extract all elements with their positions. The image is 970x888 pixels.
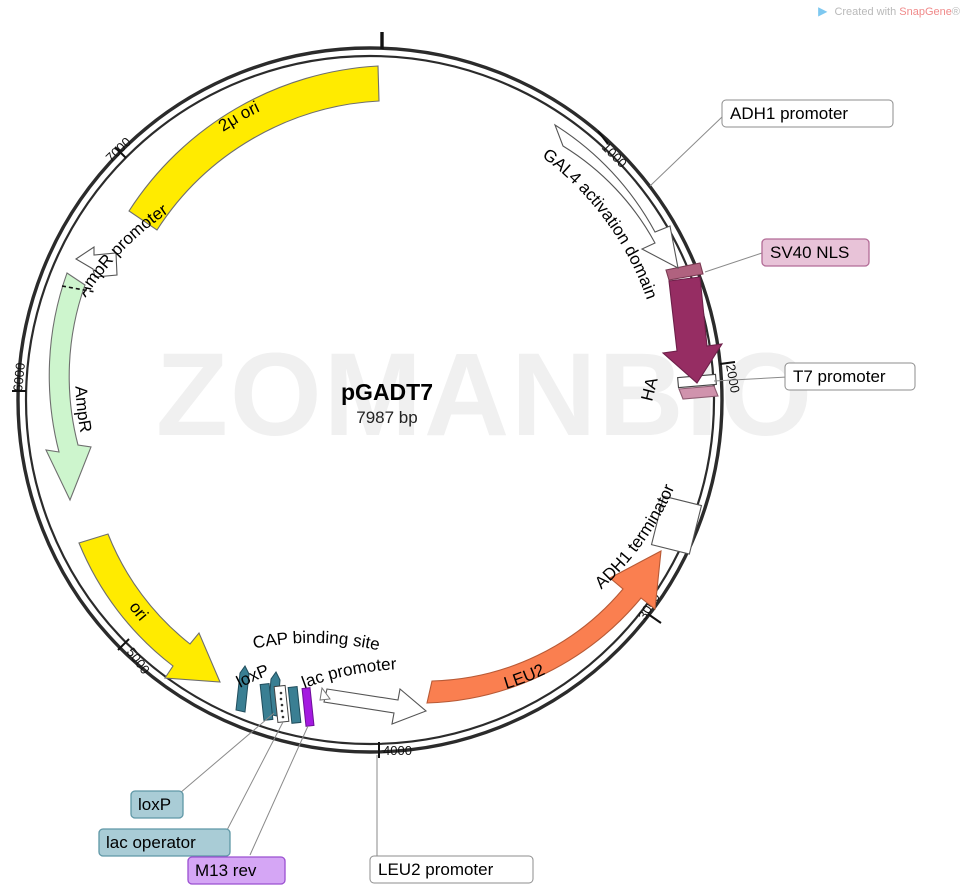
snapgene-credit: ▶ Created with SnapGene® [818, 4, 960, 18]
feature-label-cap-binding-site: CAP binding site [251, 628, 381, 654]
credit-brand-snap: SnapGene [899, 6, 952, 18]
tick-4000: 4000 [379, 742, 412, 758]
feature-m13-rev[interactable] [302, 688, 314, 727]
callout-label: ADH1 promoter [730, 104, 848, 123]
callout-adh1-promoter[interactable]: ADH1 promoter [722, 100, 893, 127]
callout-label: loxP [138, 795, 171, 814]
tick-label: 7000 [103, 134, 134, 165]
plasmid-map-canvas: ZOMANBIO 1000 2000 3000 [0, 0, 970, 888]
callout-label: lac operator [106, 833, 196, 852]
feature-ampr[interactable]: AmpR [46, 273, 95, 500]
tick-label: 4000 [383, 743, 412, 758]
callout-label: T7 promoter [793, 367, 886, 386]
plasmid-map-svg: ZOMANBIO 1000 2000 3000 [0, 0, 970, 888]
callout-label: LEU2 promoter [378, 860, 494, 879]
snapgene-logo-icon: ▶ [818, 4, 827, 18]
feature-ori[interactable]: ori [79, 534, 220, 682]
callout-loxp[interactable]: loxP [131, 791, 183, 818]
callout-leu2-promoter[interactable]: LEU2 promoter [370, 856, 533, 883]
callout-leader-lines [180, 117, 787, 856]
callout-label: SV40 NLS [770, 243, 849, 262]
cluster-arc-labels: CAP binding site loxP lac promoter [212, 628, 452, 692]
credit-brand-sup: ® [952, 6, 960, 18]
tick-7000: 7000 [103, 134, 134, 165]
callout-lac-operator[interactable]: lac operator [99, 829, 230, 856]
callout-label: M13 rev [195, 861, 257, 880]
feature-lac-promoter[interactable] [324, 689, 426, 724]
plasmid-size: 7987 bp [356, 408, 417, 427]
feature-label-ampr-promoter: AmpR promoter [73, 200, 172, 300]
feature-ampr-promoter[interactable]: AmpR promoter [73, 200, 172, 300]
plasmid-name: pGADT7 [341, 379, 433, 405]
callout-m13-rev[interactable]: M13 rev [188, 857, 285, 884]
callout-sv40-nls[interactable]: SV40 NLS [762, 239, 869, 266]
feature-2mu-ori[interactable]: 2μ ori [129, 66, 379, 230]
callout-t7-promoter[interactable]: T7 promoter [785, 363, 915, 390]
credit-prefix: Created with [834, 6, 896, 18]
feature-leu2[interactable]: LEU2 [427, 551, 661, 703]
tick-label: 6000 [10, 362, 28, 392]
feature-lac-operator[interactable] [260, 684, 301, 724]
feature-label-lac-promoter: lac promoter [299, 654, 397, 692]
feature-label-ampr: AmpR [71, 386, 95, 434]
tick-6000: 6000 [10, 362, 28, 392]
